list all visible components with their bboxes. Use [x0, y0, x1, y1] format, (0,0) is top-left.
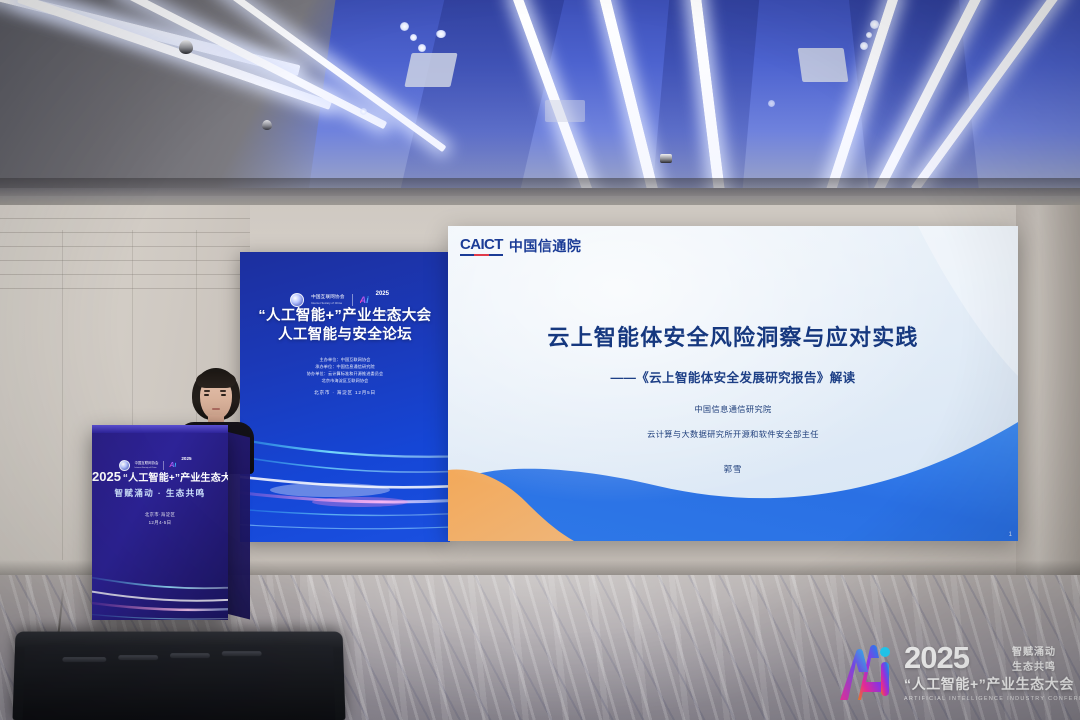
monitor-vent [62, 657, 106, 662]
ceiling-downlight [436, 30, 446, 38]
ai-logo-icon: Ai [360, 295, 369, 305]
podium-top-edge [92, 425, 228, 433]
ai-logo-icon: Ai [169, 462, 176, 469]
conference-name-english: ARTIFICIAL INTELLIGENCE INDUSTRY CONFERE… [904, 696, 1080, 702]
caict-underline [460, 254, 503, 256]
slide-organization: 中国信息通信研究院 [448, 403, 1018, 415]
slide-page-number: 1 [1009, 532, 1012, 538]
floor-reflection [300, 575, 920, 720]
podium-side-face [228, 432, 250, 619]
wall-slat [0, 288, 250, 289]
slide-speaker-role: 云计算与大数据研究所开源和软件安全部主任 [448, 428, 1018, 440]
ceiling-vent [404, 53, 457, 87]
ceiling-downlight [768, 100, 775, 107]
monitor-vent [118, 655, 158, 660]
isc-cn-label: 中国互联网协会 [135, 461, 159, 465]
conference-photo-stage: 中国互联网协会 Internet Society of China Ai 202… [0, 0, 1080, 720]
banner-organizer-line: 主办单位：中国互联网协会 [240, 356, 450, 363]
ai-gradient-logo-icon [838, 642, 896, 704]
speaker-fringe [196, 372, 236, 388]
ceiling-downlight [860, 42, 868, 50]
speaker-eye [204, 394, 209, 396]
banner-title-line1: “人工智能+”产业生态大会 [258, 308, 431, 324]
banner-place-date: 北京市 · 海淀区 12月5日 [240, 390, 450, 396]
ceiling-vent [798, 48, 849, 82]
podium-year: 2025 [92, 469, 121, 484]
projector-device [660, 154, 672, 163]
caict-logo: CAICT 中国信通院 [460, 236, 581, 256]
wall-slat [0, 218, 250, 219]
slide-title: 云上智能体安全风险洞察与应对实践 [448, 320, 1018, 352]
conference-slogan-line2: 生态共鸣 [1012, 662, 1056, 673]
podium-title: “人工智能+”产业生态大会 [123, 473, 228, 484]
speaker-eyebrow [220, 390, 226, 392]
caict-wordmark-text: CAICT [460, 236, 503, 253]
isc-en-label: Internet Society of China [311, 302, 342, 305]
wall-seam [62, 230, 63, 560]
banner-organizers: 主办单位：中国互联网协会 承办单位：中国信息通信研究院 协办单位：云计算标准和开… [240, 356, 450, 385]
security-camera-icon [179, 40, 193, 54]
speaker-mouth [212, 408, 220, 410]
caict-underline-seg [489, 254, 503, 256]
isc-globe-icon [290, 293, 304, 307]
logo-divider [352, 294, 353, 306]
ceiling-downlight [410, 34, 417, 41]
isc-logo-text: 中国互联网协会 Internet Society of China [311, 294, 345, 305]
wall-slat [0, 274, 250, 275]
ceiling-downlight [400, 22, 409, 31]
wall-slat [0, 246, 250, 247]
podium-slogan: 智赋涌动 · 生态共鸣 [92, 487, 228, 499]
podium-light-streaks [92, 555, 228, 620]
conference-slogan-line1: 智赋涌动 [1012, 647, 1056, 658]
banner-organizer-line: 北京市海淀区互联网协会 [240, 377, 450, 384]
banner-title-line2: 人工智能与安全论坛 [278, 327, 412, 343]
speaker-eye [221, 394, 226, 396]
podium-place: 北京市·海淀区 [92, 511, 228, 519]
conference-name: “人工智能+”产业生态大会 [904, 674, 1080, 694]
conference-logo-text: 2025 智赋涌动 生态共鸣 “人工智能+”产业生态大会 ARTIFICIAL … [904, 644, 1080, 702]
security-camera-icon [262, 120, 272, 130]
podium-title-line: 2025“人工智能+”产业生态大会 [92, 469, 228, 484]
isc-cn-label: 中国互联网协会 [311, 294, 345, 299]
conference-logo-watermark: 2025 智赋涌动 生态共鸣 “人工智能+”产业生态大会 ARTIFICIAL … [838, 634, 1074, 712]
ceiling-vent [545, 100, 585, 122]
caict-underline-seg [460, 254, 474, 256]
banner-light-streaks [240, 402, 450, 542]
slide-subtitle: ——《云上智能体安全发展研究报告》解读 [448, 367, 1018, 386]
ceiling-downlight [418, 44, 426, 52]
ceiling-downlight [360, 108, 367, 115]
banner-title: “人工智能+”产业生态大会 人工智能与安全论坛 [240, 307, 450, 345]
ai-logo-year: 2025 [376, 291, 389, 297]
ceiling-downlight [870, 20, 879, 29]
podium-date: 12月4-5日 [92, 519, 228, 527]
ceiling-downlight [866, 32, 872, 38]
ceiling-shadow-band [0, 178, 1080, 196]
confidence-monitor [12, 632, 345, 720]
forum-banner: 中国互联网协会 Internet Society of China Ai 202… [240, 252, 450, 542]
wall-slat [0, 232, 250, 233]
slide-speaker-name: 郭雪 [448, 463, 1018, 475]
podium-place-date: 北京市·海淀区 12月4-5日 [92, 511, 228, 527]
banner-organizer-line: 协办单位：云计算标准和开源推进委员会 [240, 370, 450, 377]
monitor-vent [222, 651, 262, 656]
presentation-screen: CAICT 中国信通院 云上智能体安全风险洞察与应对实践 ——《云上智能体安全发… [448, 226, 1018, 541]
caict-chinese-name: 中国信通院 [509, 236, 582, 256]
speaker-eyebrow [204, 390, 210, 392]
podium: 中国互联网协会 Internet Society of China Ai 202… [92, 425, 228, 620]
banner-organizer-line: 承办单位：中国信息通信研究院 [240, 363, 450, 370]
caict-underline-seg [474, 254, 488, 256]
wall-slat [0, 260, 250, 261]
conference-slogan: 智赋涌动 生态共鸣 [1012, 646, 1056, 675]
monitor-vent [170, 653, 210, 658]
ai-logo-year: 2025 [181, 456, 191, 461]
caict-wordmark: CAICT [460, 236, 503, 256]
